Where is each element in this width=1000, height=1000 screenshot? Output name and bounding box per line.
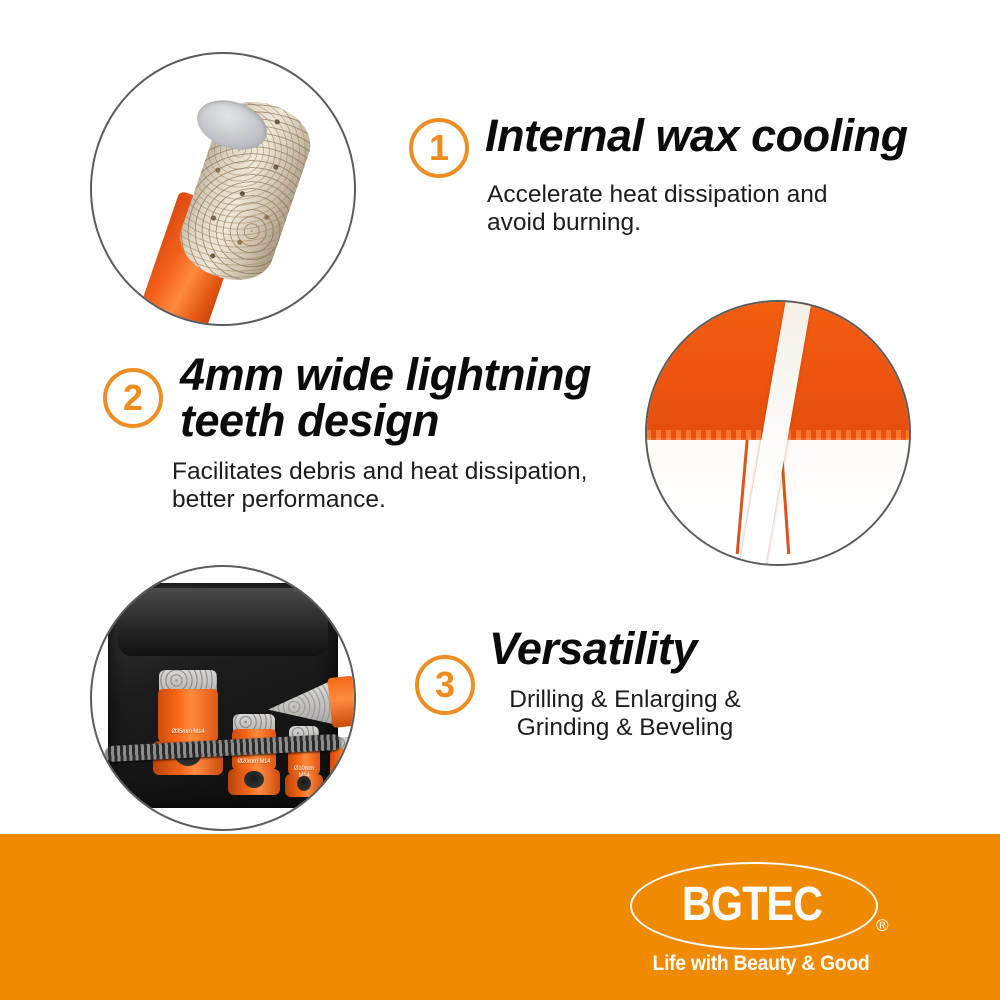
beveling-cone-bit: [266, 679, 356, 732]
footer-bar: BGTEC ® Life with Beauty & Good: [0, 834, 1000, 1000]
bit-label-35mm: Ø35mm M14: [158, 729, 218, 736]
brand-tagline: Life with Beauty & Good: [640, 952, 881, 976]
photo-1-content: [92, 54, 354, 324]
diamond-segment-left: [645, 433, 750, 554]
registered-trademark-icon: ®: [876, 916, 889, 936]
feature-description-2: Facilitates debris and heat dissipation,…: [172, 458, 587, 514]
feature-number-badge-3: 3: [415, 655, 475, 715]
feature-description-3: Drilling & Enlarging & Grinding & Beveli…: [490, 686, 760, 742]
carry-case-lid: [118, 588, 328, 656]
bit-thread-hole: [244, 771, 263, 788]
brand-logo: BGTEC ® Life with Beauty & Good: [630, 862, 890, 972]
feature-title-2: 4mm wide lightning teeth design: [180, 352, 591, 444]
cone-shank: [327, 676, 356, 728]
feature-number-badge-2: 2: [103, 368, 163, 428]
photo-drill-bit-set-case: Ø35mm M14 Ø20mm M14 Ø10mm M14: [90, 565, 356, 831]
feature-number-badge-1: 1: [409, 118, 469, 178]
drill-bit-35mm: Ø35mm M14: [158, 689, 218, 775]
product-feature-poster: 1 Internal wax cooling Accelerate heat d…: [0, 0, 1000, 1000]
logo-wordmark: BGTEC: [647, 862, 857, 946]
diamond-segment-right: [779, 433, 911, 554]
feature-title-3: Versatility: [489, 626, 697, 672]
cone-tip: [266, 681, 335, 732]
bit-thread-hole: [338, 784, 350, 798]
drill-bit-6mm: Ø6mm M14: [330, 749, 356, 803]
photo-3-content: Ø35mm M14 Ø20mm M14 Ø10mm M14: [92, 567, 354, 829]
photo-2-content: [647, 302, 909, 564]
feature-description-1: Accelerate heat dissipation and avoid bu…: [487, 181, 828, 237]
photo-lightning-teeth-closeup: [645, 300, 911, 566]
feature-title-1: Internal wax cooling: [485, 113, 908, 159]
bit-label-20mm: Ø20mm M14: [232, 759, 276, 766]
photo-core-drill-bit-tip: [90, 52, 356, 326]
